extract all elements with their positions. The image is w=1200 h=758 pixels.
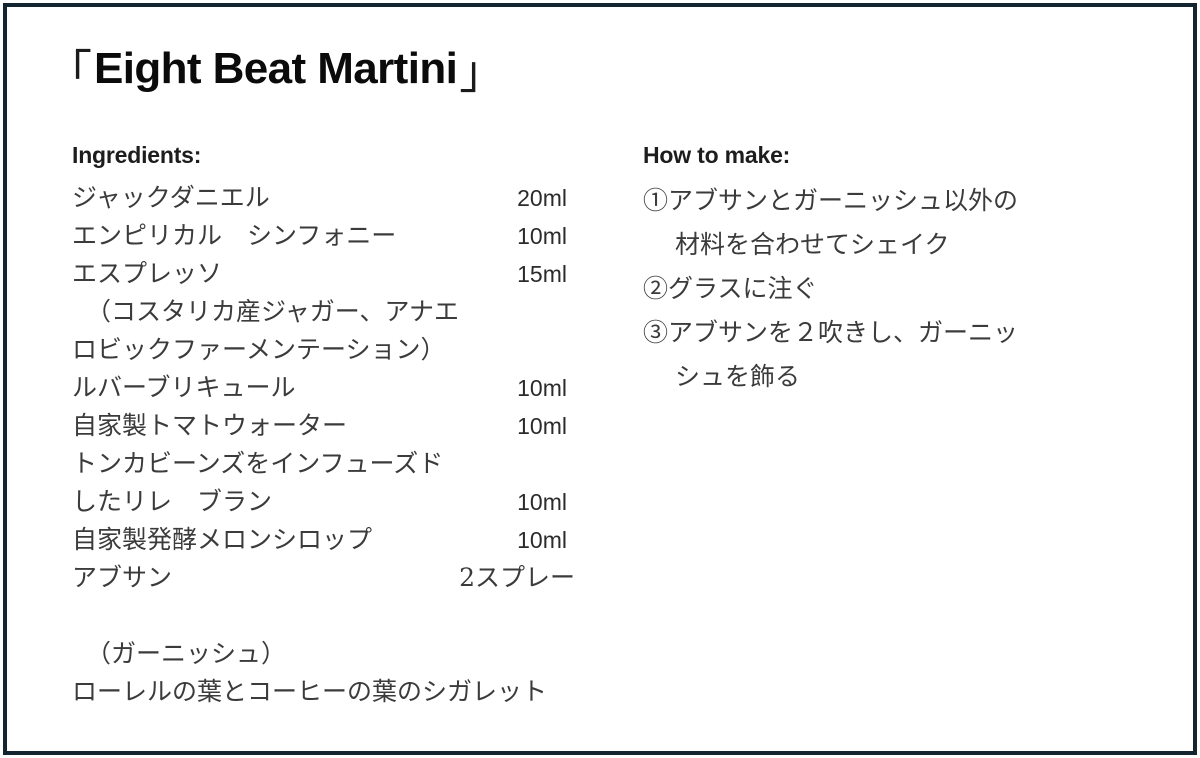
ingredient-list: ジャックダニエル20mlエンピリカル シンフォニー10mlエスプレッソ15ml（… [72,178,592,596]
how-to-make-heading: How to make: [643,142,1148,169]
ingredient-amount: 10ml [517,489,567,516]
ingredient-row: したリレ ブラン10ml [72,482,567,520]
ingredient-row: エンピリカル シンフォニー10ml [72,216,567,254]
how-to-make-section: How to make: ①アブサンとガーニッシュ以外の材料を合わせてシェイク②… [643,142,1148,401]
ingredient-row: ジャックダニエル20ml [72,178,567,216]
ingredient-name: したリレ ブラン [72,482,272,518]
ingredient-name: ロビックファーメンテーション） [72,330,446,366]
ingredient-amount: 20ml [517,185,567,212]
recipe-card: 「 Eight Beat Martini 」 Ingredients: ジャック… [0,0,1200,758]
ingredient-amount: 10ml [517,527,567,554]
ingredient-row: 自家製トマトウォーター10ml [72,406,567,444]
ingredient-row: 自家製発酵メロンシロップ10ml [72,520,567,558]
title-open-bracket-icon: 「 [46,49,92,95]
ingredient-name: ルバーブリキュール [72,368,296,404]
ingredient-name: アブサン [72,558,172,594]
title-text: Eight Beat Martini [94,47,457,91]
ingredients-section: Ingredients: ジャックダニエル20mlエンピリカル シンフォニー10… [72,142,592,710]
garnish-line: ローレルの葉とコーヒーの葉のシガレット [72,672,592,710]
ingredient-amount: 2スプレー [459,558,575,594]
ingredient-name: エンピリカル シンフォニー [72,216,396,252]
garnish-line: （ガーニッシュ） [72,634,592,672]
title-close-bracket-icon: 」 [459,49,505,95]
ingredient-name: 自家製発酵メロンシロップ [72,520,372,556]
step-line: ①アブサンとガーニッシュ以外の [643,181,1148,225]
ingredient-row: ロビックファーメンテーション） [72,330,567,368]
ingredient-name: ジャックダニエル [72,178,270,214]
ingredient-amount: 15ml [517,261,567,288]
step-continuation-line: 材料を合わせてシェイク [643,225,1148,269]
ingredient-row: ルバーブリキュール10ml [72,368,567,406]
ingredient-row: トンカビーンズをインフューズド [72,444,567,482]
ingredient-row: アブサン2スプレー [72,558,567,596]
ingredient-amount: 10ml [517,375,567,402]
how-to-make-step-list: ①アブサンとガーニッシュ以外の材料を合わせてシェイク②グラスに注ぐ③アブサンを２… [643,181,1148,401]
garnish-list: （ガーニッシュ）ローレルの葉とコーヒーの葉のシガレット [72,634,592,710]
ingredient-name: （コスタリカ産ジャガー、アナエ [72,292,459,328]
ingredient-amount: 10ml [517,223,567,250]
ingredient-row: （コスタリカ産ジャガー、アナエ [72,292,567,330]
ingredients-garnish-spacer [72,596,592,634]
ingredient-amount: 10ml [517,413,567,440]
ingredient-row: エスプレッソ15ml [72,254,567,292]
step-line: ③アブサンを２吹きし、ガーニッ [643,313,1148,357]
ingredient-name: エスプレッソ [72,254,222,290]
ingredients-heading: Ingredients: [72,142,592,169]
page-title: 「 Eight Beat Martini 」 [46,47,505,93]
step-line: ②グラスに注ぐ [643,269,1148,313]
ingredient-name: 自家製トマトウォーター [72,406,347,442]
ingredient-name: トンカビーンズをインフューズド [72,444,443,480]
step-continuation-line: シュを飾る [643,357,1148,401]
